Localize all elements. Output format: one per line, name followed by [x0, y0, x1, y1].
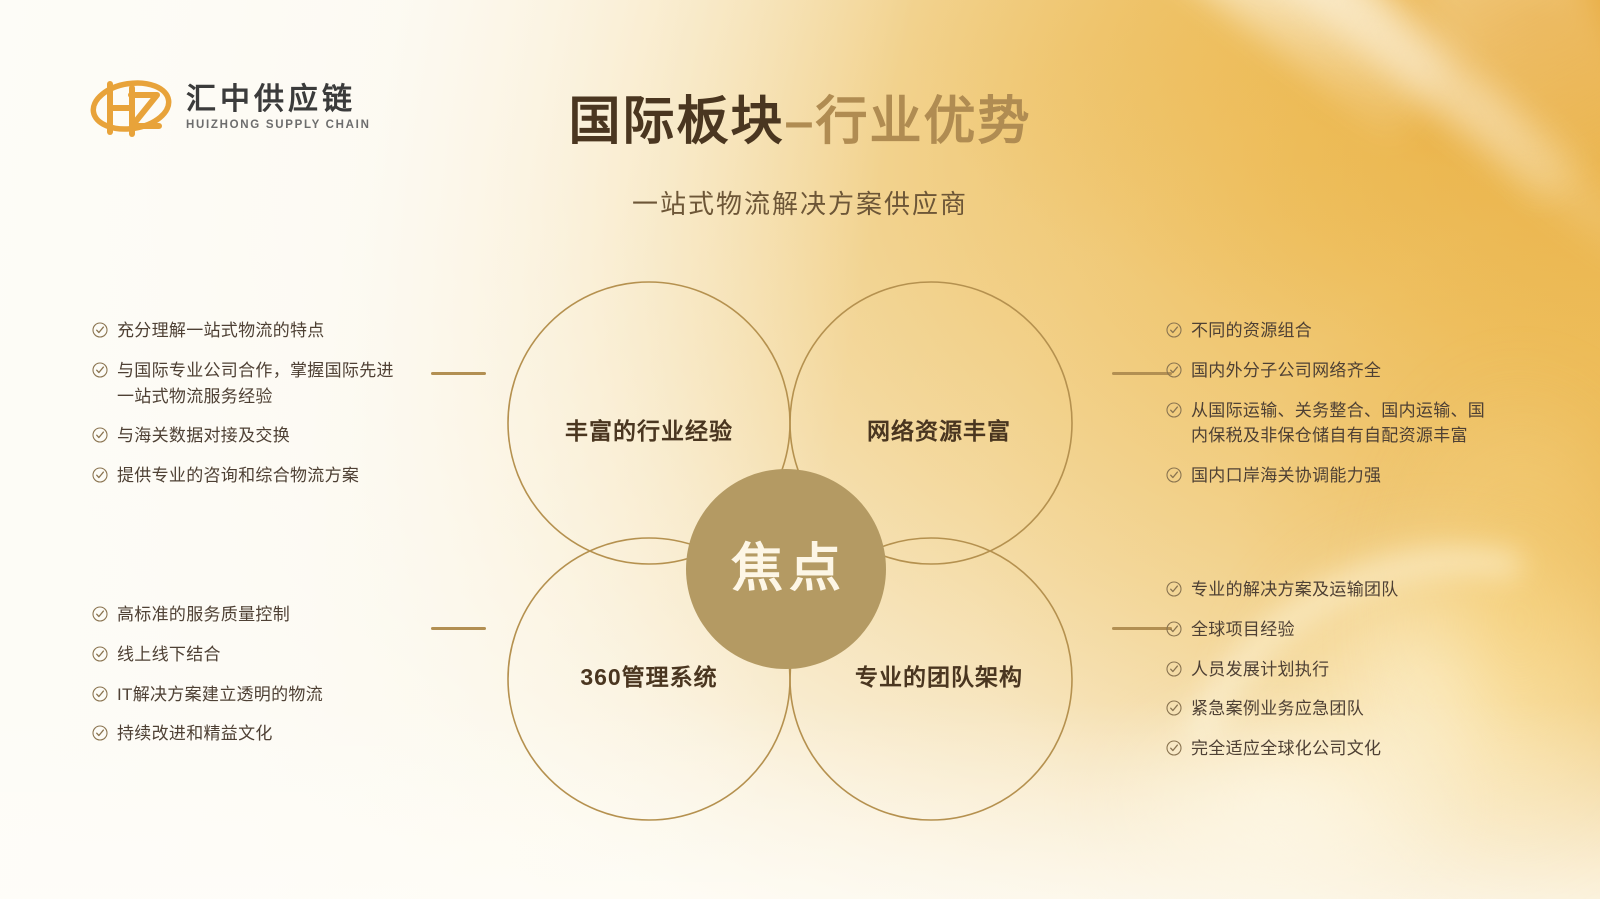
connector-line-top-right — [1112, 372, 1172, 375]
list-item-label: IT解决方案建立透明的物流 — [117, 682, 323, 708]
venn-label-top-right: 网络资源丰富 — [804, 412, 1074, 446]
feature-list-bottom-left: 高标准的服务质量控制线上线下结合IT解决方案建立透明的物流持续改进和精益文化 — [92, 602, 512, 747]
circled-check-icon — [1166, 621, 1182, 637]
venn-label-bottom-right: 专业的团队架构 — [804, 658, 1074, 692]
list-item: 与国际专业公司合作，掌握国际先进一站式物流服务经验 — [92, 358, 512, 410]
list-item-label: 国内外分子公司网络齐全 — [1191, 358, 1381, 384]
list-item: 全球项目经验 — [1166, 617, 1586, 643]
feature-list-top-right: 不同的资源组合国内外分子公司网络齐全从国际运输、关务整合、国内运输、国内保税及非… — [1166, 318, 1586, 489]
list-item-label: 与国际专业公司合作，掌握国际先进一站式物流服务经验 — [117, 358, 394, 410]
list-item-label: 国内口岸海关协调能力强 — [1191, 463, 1381, 489]
list-item: 与海关数据对接及交换 — [92, 423, 512, 449]
circled-check-icon — [92, 725, 108, 741]
list-item: 国内口岸海关协调能力强 — [1166, 463, 1586, 489]
connector-line-bottom-right — [1112, 627, 1172, 630]
feature-list-bottom-right: 专业的解决方案及运输团队全球项目经验人员发展计划执行紧急案例业务应急团队完全适应… — [1166, 577, 1586, 762]
list-item-label: 提供专业的咨询和综合物流方案 — [117, 463, 359, 489]
list-item-label: 持续改进和精益文化 — [117, 721, 273, 747]
list-item: 从国际运输、关务整合、国内运输、国内保税及非保仓储自有自配资源丰富 — [1166, 398, 1586, 450]
list-item-label: 与海关数据对接及交换 — [117, 423, 290, 449]
list-item-label: 充分理解一站式物流的特点 — [117, 318, 325, 344]
page-subtitle: 一站式物流解决方案供应商 — [0, 184, 1600, 221]
circled-check-icon — [92, 467, 108, 483]
venn-center-label: 焦点 — [725, 543, 847, 595]
circled-check-icon — [1166, 740, 1182, 756]
list-item-label: 线上线下结合 — [117, 642, 221, 668]
list-item-label: 完全适应全球化公司文化 — [1191, 736, 1381, 762]
list-item-label: 从国际运输、关务整合、国内运输、国内保税及非保仓储自有自配资源丰富 — [1191, 398, 1485, 450]
list-item: 国内外分子公司网络齐全 — [1166, 358, 1586, 384]
venn-center-focus: 焦点 — [686, 469, 886, 669]
list-item: IT解决方案建立透明的物流 — [92, 682, 512, 708]
circled-check-icon — [92, 646, 108, 662]
list-item: 提供专业的咨询和综合物流方案 — [92, 463, 512, 489]
circled-check-icon — [1166, 661, 1182, 677]
page-title: 国际板块–行业优势 — [0, 96, 1600, 148]
circled-check-icon — [92, 686, 108, 702]
venn-label-top-left: 丰富的行业经验 — [514, 412, 784, 446]
list-item: 专业的解决方案及运输团队 — [1166, 577, 1586, 603]
feature-list-top-left: 充分理解一站式物流的特点与国际专业公司合作，掌握国际先进一站式物流服务经验与海关… — [92, 318, 512, 489]
circled-check-icon — [1166, 581, 1182, 597]
list-item-label: 人员发展计划执行 — [1191, 657, 1329, 683]
title-accent: –行业优势 — [785, 93, 1032, 151]
venn-diagram: 丰富的行业经验 网络资源丰富 360管理系统 专业的团队架构 焦点 — [508, 282, 1072, 820]
list-item-label: 紧急案例业务应急团队 — [1191, 696, 1364, 722]
list-item: 高标准的服务质量控制 — [92, 602, 512, 628]
circled-check-icon — [1166, 402, 1182, 418]
list-item: 充分理解一站式物流的特点 — [92, 318, 512, 344]
slide-canvas: 汇中供应链 HUIZHONG SUPPLY CHAIN 国际板块–行业优势 一站… — [0, 0, 1600, 899]
circled-check-icon — [1166, 700, 1182, 716]
list-item-label: 不同的资源组合 — [1191, 318, 1312, 344]
circled-check-icon — [1166, 322, 1182, 338]
circled-check-icon — [1166, 467, 1182, 483]
circled-check-icon — [92, 322, 108, 338]
list-item: 紧急案例业务应急团队 — [1166, 696, 1586, 722]
circled-check-icon — [92, 606, 108, 622]
title-main: 国际板块 — [569, 93, 785, 151]
list-item: 线上线下结合 — [92, 642, 512, 668]
list-item-label: 专业的解决方案及运输团队 — [1191, 577, 1399, 603]
list-item: 不同的资源组合 — [1166, 318, 1586, 344]
circled-check-icon — [92, 362, 108, 378]
list-item-label: 高标准的服务质量控制 — [117, 602, 290, 628]
list-item: 人员发展计划执行 — [1166, 657, 1586, 683]
circled-check-icon — [92, 427, 108, 443]
circled-check-icon — [1166, 362, 1182, 378]
list-item: 持续改进和精益文化 — [92, 721, 512, 747]
list-item: 完全适应全球化公司文化 — [1166, 736, 1586, 762]
venn-label-bottom-left: 360管理系统 — [514, 658, 784, 692]
list-item-label: 全球项目经验 — [1191, 617, 1295, 643]
